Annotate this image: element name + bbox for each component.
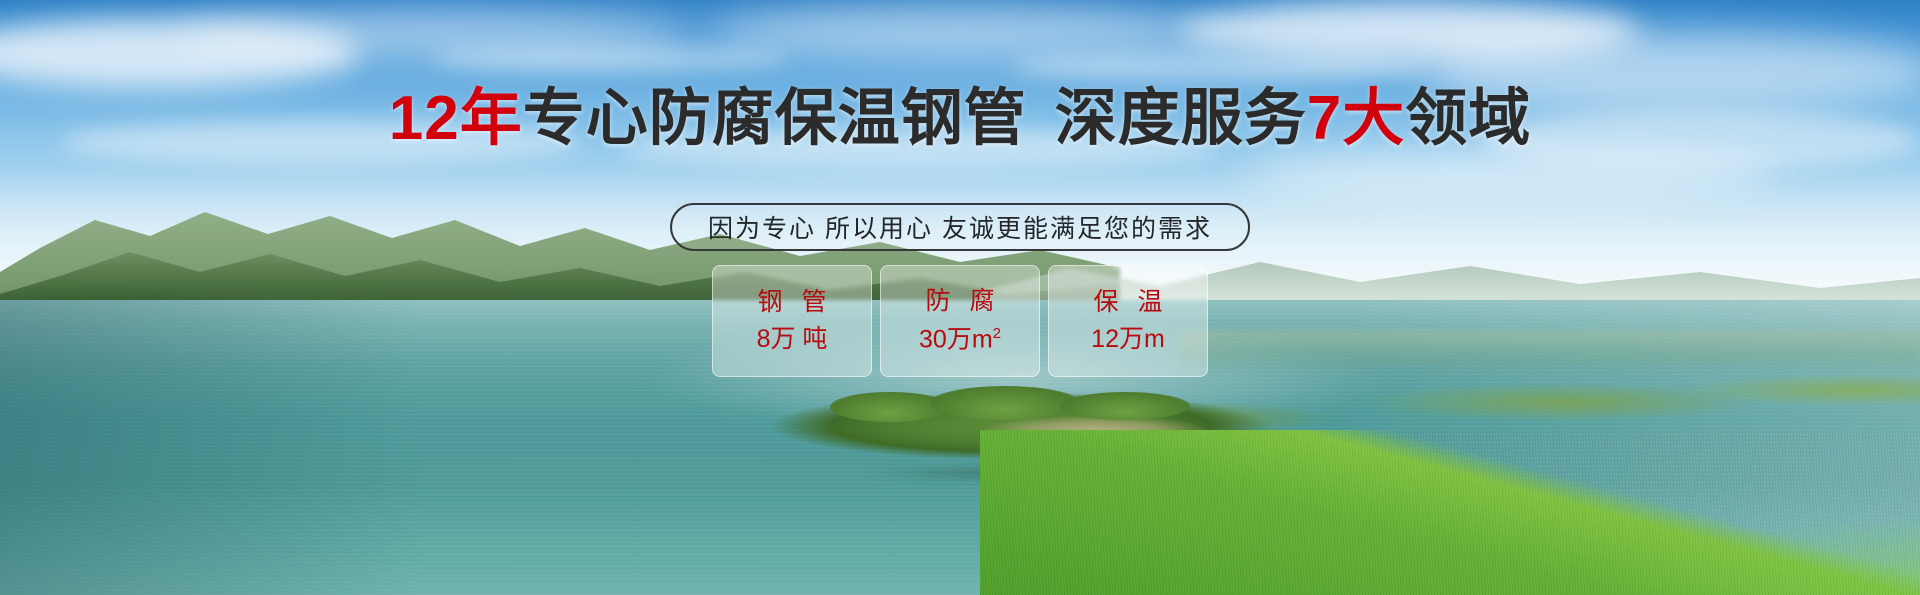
headline-fields: 领域 xyxy=(1405,84,1531,153)
grass-tuft xyxy=(930,386,1080,420)
stat-card-value: 30万m2 xyxy=(919,326,1001,352)
stat-value-unit: 万 吨 xyxy=(770,325,827,353)
subtitle-pill: 因为专心 所以用心 友诚更能满足您的需求 xyxy=(670,203,1250,251)
headline-main: 专心防腐保温钢管 xyxy=(523,84,1027,153)
stat-card-group: 钢 管 8万 吨 防 腐 30万m2 保 温 12万m xyxy=(712,265,1208,377)
stat-value-number: 12 xyxy=(1091,325,1119,353)
stat-card-anticorrosion[interactable]: 防 腐 30万m2 xyxy=(880,265,1040,377)
headline-years: 12年 xyxy=(389,84,523,153)
stat-value-unit: 万m xyxy=(947,326,993,354)
subtitle-text: 因为专心 所以用心 友诚更能满足您的需求 xyxy=(708,209,1212,245)
headline-seven: 7大 xyxy=(1307,84,1405,153)
stat-card-label: 保 温 xyxy=(1088,290,1169,315)
stat-value-superscript: 2 xyxy=(993,325,1001,342)
grass-tuft xyxy=(1060,392,1190,420)
stat-value-number: 30 xyxy=(919,326,947,354)
stat-card-value: 8万 吨 xyxy=(757,327,828,352)
grass-texture xyxy=(980,430,1920,595)
headline: 12年专心防腐保温钢管深度服务7大领域 xyxy=(0,88,1920,150)
hero-banner: 12年专心防腐保温钢管深度服务7大领域 因为专心 所以用心 友诚更能满足您的需求… xyxy=(0,0,1920,595)
stat-card-steel-pipe[interactable]: 钢 管 8万 吨 xyxy=(712,265,872,377)
stat-value-unit: 万m xyxy=(1119,325,1165,353)
stat-card-label: 钢 管 xyxy=(752,290,833,315)
stat-card-value: 12万m xyxy=(1091,327,1165,352)
headline-service: 深度服务 xyxy=(1055,84,1307,153)
stat-card-insulation[interactable]: 保 温 12万m xyxy=(1048,265,1208,377)
stat-value-number: 8 xyxy=(757,325,771,353)
stat-card-label: 防 腐 xyxy=(920,289,1001,314)
